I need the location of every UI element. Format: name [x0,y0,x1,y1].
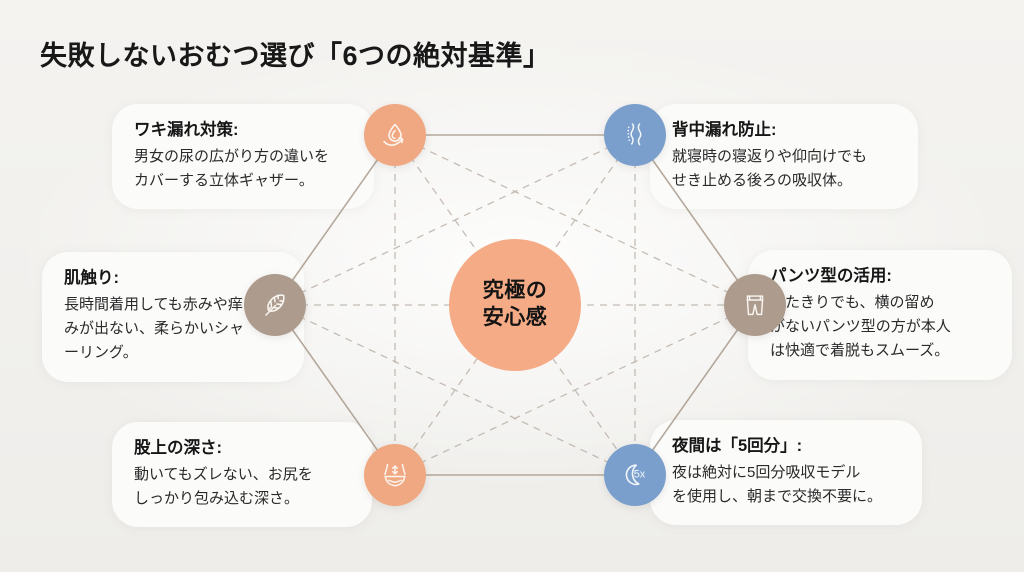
infographic-canvas: 失敗しないおむつ選び「6つの絶対基準」 ワキ漏れ対策: 男女の尿の広がり方の違い… [0,0,1024,572]
feature-heading-pants-gata: パンツ型の活用: [770,264,992,289]
feature-body-pants-gata: 寝たきりでも、横の留め がないパンツ型の方が本人 は快適で着脱もスムーズ。 [770,291,992,364]
feature-card-pants-gata: パンツ型の活用: 寝たきりでも、横の留め がないパンツ型の方が本人 は快適で着脱… [748,250,1012,380]
spine-back-icon [617,117,653,153]
node-waki-more[interactable] [364,104,426,166]
center-label-line2: 安心感 [483,305,548,332]
page-title: 失敗しないおむつ選び「6つの絶対基準」 [40,34,551,73]
center-label-line1: 究極の [483,278,548,305]
water-drop-deflect-icon [377,117,413,153]
waist-rise-depth-icon [377,457,413,493]
node-hadazawari[interactable] [244,274,306,336]
node-yakan-5kai[interactable]: 5x [604,444,666,506]
node-pants-gata[interactable] [724,274,786,336]
node-matagami-fukasa[interactable] [364,444,426,506]
feather-icon [257,287,293,323]
moon-badge-text: 5x [634,469,646,481]
pants-icon [738,288,772,322]
hexagon-diagram: 究極の 安心感 [260,95,770,515]
center-hub: 究極の 安心感 [449,239,581,371]
moon-5x-icon: 5x [616,456,654,494]
node-senaka-more[interactable] [604,104,666,166]
